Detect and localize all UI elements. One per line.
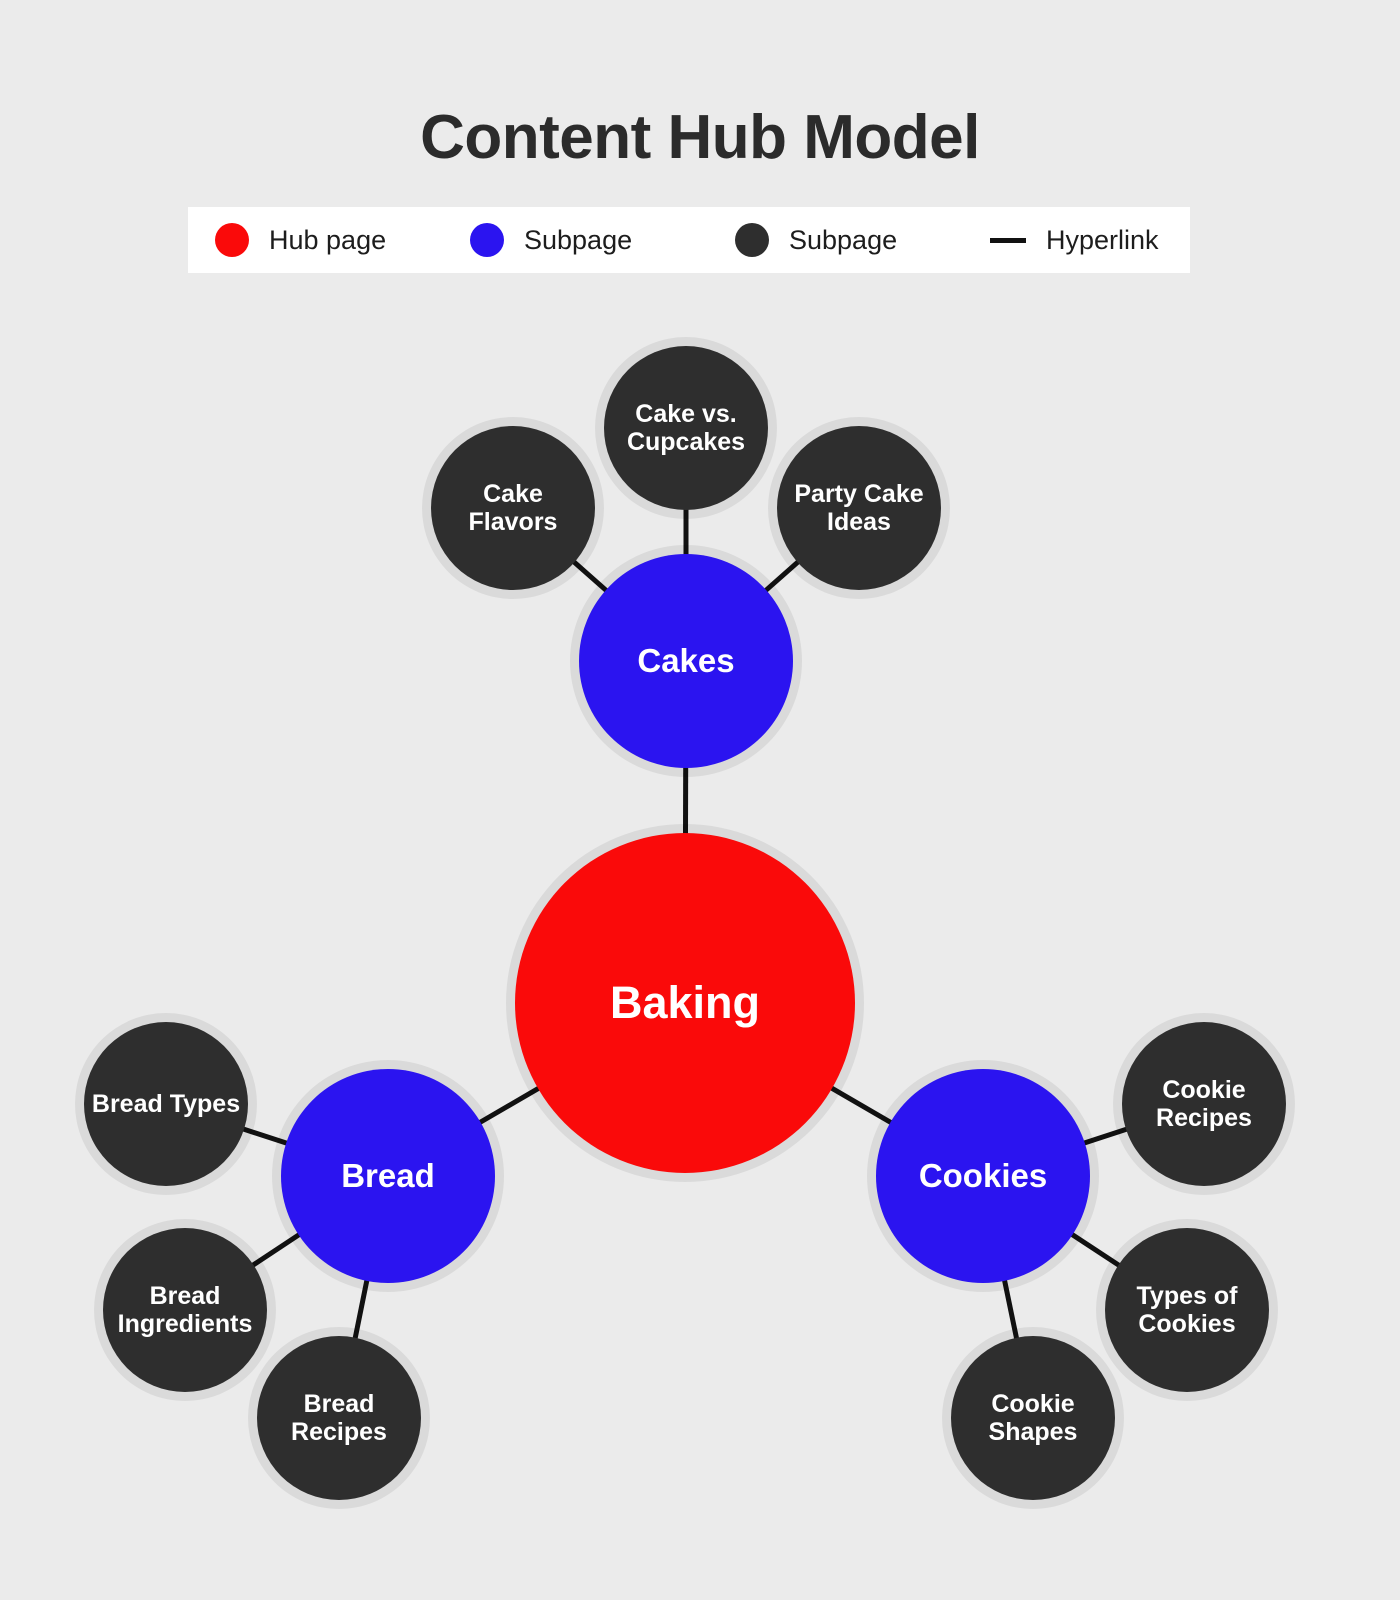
diagram-canvas: Content Hub Model Hub page Subpage Subpa… [0,0,1400,1600]
edge-baking-to-cookies [830,1087,892,1123]
node-cake-vs-cupcakes[interactable]: Cake vs. Cupcakes [604,346,768,510]
node-label-bread: Bread [335,1158,441,1195]
node-bread-recipes[interactable]: Bread Recipes [257,1336,421,1500]
node-cookies[interactable]: Cookies [876,1069,1090,1283]
node-bread[interactable]: Bread [281,1069,495,1283]
node-party-cake-ideas[interactable]: Party Cake Ideas [777,426,941,590]
node-label-bread-recipes: Bread Recipes [257,1390,421,1446]
edge-bread-to-bread-ingredients [252,1234,301,1266]
node-label-cakes: Cakes [631,643,740,680]
node-label-cookie-shapes: Cookie Shapes [951,1390,1115,1446]
edge-bread-to-bread-recipes [355,1279,367,1340]
hub-and-spoke-graph: BakingCakesBreadCookiesCake FlavorsCake … [0,0,1400,1600]
node-label-party-cake-ideas: Party Cake Ideas [777,480,941,536]
node-types-of-cookies[interactable]: Types of Cookies [1105,1228,1269,1392]
node-cakes[interactable]: Cakes [579,554,793,768]
node-cookie-shapes[interactable]: Cookie Shapes [951,1336,1115,1500]
edge-cookies-to-cookie-shapes [1004,1279,1017,1340]
node-label-cookie-recipes: Cookie Recipes [1122,1076,1286,1132]
node-label-bread-ingredients: Bread Ingredients [103,1282,267,1338]
node-cake-flavors[interactable]: Cake Flavors [431,426,595,590]
edge-baking-to-bread [479,1088,540,1124]
edge-cakes-to-party-cake-ideas [765,561,799,591]
node-label-baking: Baking [604,978,766,1028]
edge-bread-to-bread-types [242,1129,288,1144]
node-label-cookies: Cookies [913,1158,1053,1195]
edge-cookies-to-types-of-cookies [1071,1234,1120,1266]
node-label-cake-vs-cupcakes: Cake vs. Cupcakes [604,400,768,456]
edge-cakes-to-cake-flavors [573,561,607,591]
node-bread-ingredients[interactable]: Bread Ingredients [103,1228,267,1392]
node-bread-types[interactable]: Bread Types [84,1022,248,1186]
node-label-types-of-cookies: Types of Cookies [1105,1282,1269,1338]
node-label-cake-flavors: Cake Flavors [431,480,595,536]
node-label-bread-types: Bread Types [86,1090,246,1118]
node-cookie-recipes[interactable]: Cookie Recipes [1122,1022,1286,1186]
node-baking[interactable]: Baking [515,833,855,1173]
